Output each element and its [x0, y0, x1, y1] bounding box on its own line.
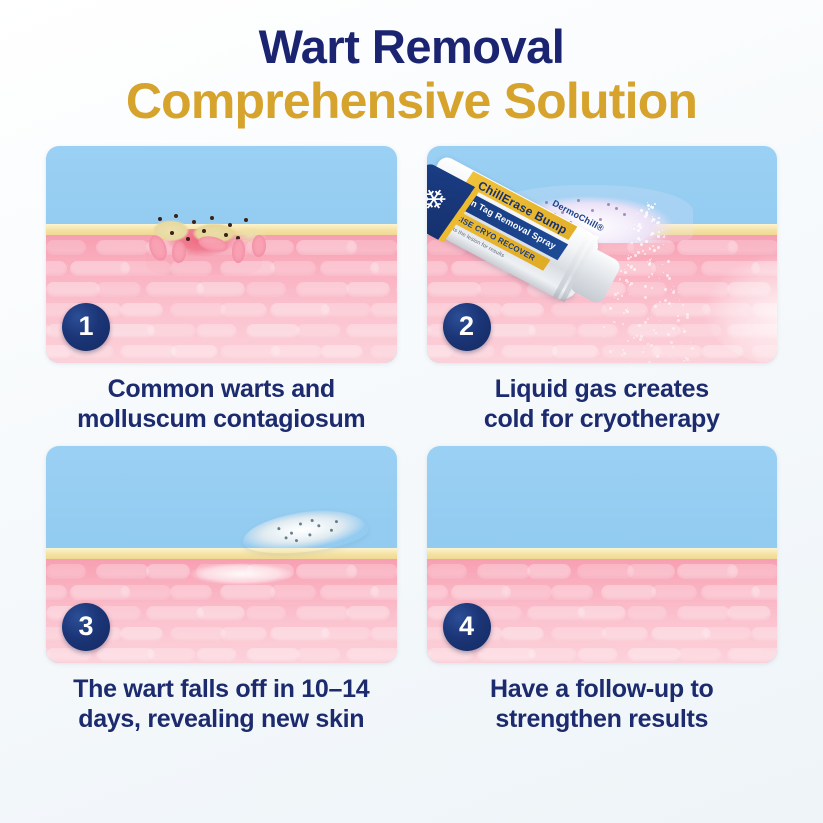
caption-line-2: molluscum contagiosum — [46, 404, 397, 434]
step-number-badge: 4 — [443, 603, 491, 651]
step-4-illustration: 4 — [427, 446, 778, 663]
scab-speck — [308, 533, 311, 536]
capillary-cell — [171, 241, 186, 263]
caption-line-2: days, revealing new skin — [46, 704, 397, 734]
healing-seam — [179, 561, 304, 587]
caption-line-2: cold for cryotherapy — [427, 404, 778, 434]
scab-speck — [330, 528, 333, 531]
caption-line-1: Liquid gas creates — [427, 374, 778, 404]
epidermis-layer — [46, 548, 397, 559]
step-3-caption: The wart falls off in 10–14 days, reveal… — [46, 674, 397, 734]
step-3-illustration: 3 — [46, 446, 397, 663]
frost-speck — [623, 213, 626, 216]
epidermis-layer — [427, 548, 778, 559]
scab-speck — [335, 520, 338, 523]
step-4-caption: Have a follow-up to strengthen results — [427, 674, 778, 734]
steps-grid: 1 Common warts and molluscum contagiosum — [0, 146, 823, 734]
thrombosed-capillary-dot — [174, 214, 178, 218]
step-2-caption: Liquid gas creates cold for cryotherapy — [427, 374, 778, 434]
scab-speck — [317, 524, 320, 527]
step-card-4: 4 Have a follow-up to strengthen results — [427, 446, 778, 734]
step-2-illustration: DermoChill® ChillErase Bump Skin Tag Rem… — [427, 146, 778, 363]
thrombosed-capillary-dot — [192, 220, 196, 224]
page-title: Wart Removal — [0, 22, 823, 72]
frost-speck — [607, 203, 610, 206]
capillary-cell — [251, 235, 266, 257]
frost-speck — [615, 207, 618, 210]
step-number-badge: 3 — [62, 603, 110, 651]
wart-lesion-icon — [140, 211, 268, 245]
caption-line-1: The wart falls off in 10–14 — [46, 674, 397, 704]
scab-speck — [290, 531, 293, 534]
caption-line-2: strengthen results — [427, 704, 778, 734]
thrombosed-capillary-dot — [210, 216, 214, 220]
snowflake-icon: ❄ — [427, 182, 453, 219]
thrombosed-capillary-dot — [170, 231, 174, 235]
scab-speck — [311, 519, 314, 522]
scab-speck — [277, 527, 280, 530]
thrombosed-capillary-dot — [228, 223, 232, 227]
thrombosed-capillary-dot — [186, 237, 190, 241]
caption-line-1: Have a follow-up to — [427, 674, 778, 704]
page-heading: Wart Removal Comprehensive Solution — [0, 0, 823, 128]
caption-line-1: Common warts and — [46, 374, 397, 404]
step-number-badge: 1 — [62, 303, 110, 351]
scab-speck — [285, 536, 288, 539]
step-card-3: 3 The wart falls off in 10–14 days, reve… — [46, 446, 397, 734]
step-card-1: 1 Common warts and molluscum contagiosum — [46, 146, 397, 434]
thrombosed-capillary-dot — [224, 233, 228, 237]
step-1-caption: Common warts and molluscum contagiosum — [46, 374, 397, 434]
page-subtitle: Comprehensive Solution — [0, 74, 823, 128]
scab-speck — [295, 539, 298, 542]
step-number-badge: 2 — [443, 303, 491, 351]
step-card-2: DermoChill® ChillErase Bump Skin Tag Rem… — [427, 146, 778, 434]
thrombosed-capillary-dot — [202, 229, 206, 233]
step-1-illustration: 1 — [46, 146, 397, 363]
scab-speck — [299, 522, 302, 525]
thrombosed-capillary-dot — [244, 218, 248, 222]
thrombosed-capillary-dot — [158, 217, 162, 221]
